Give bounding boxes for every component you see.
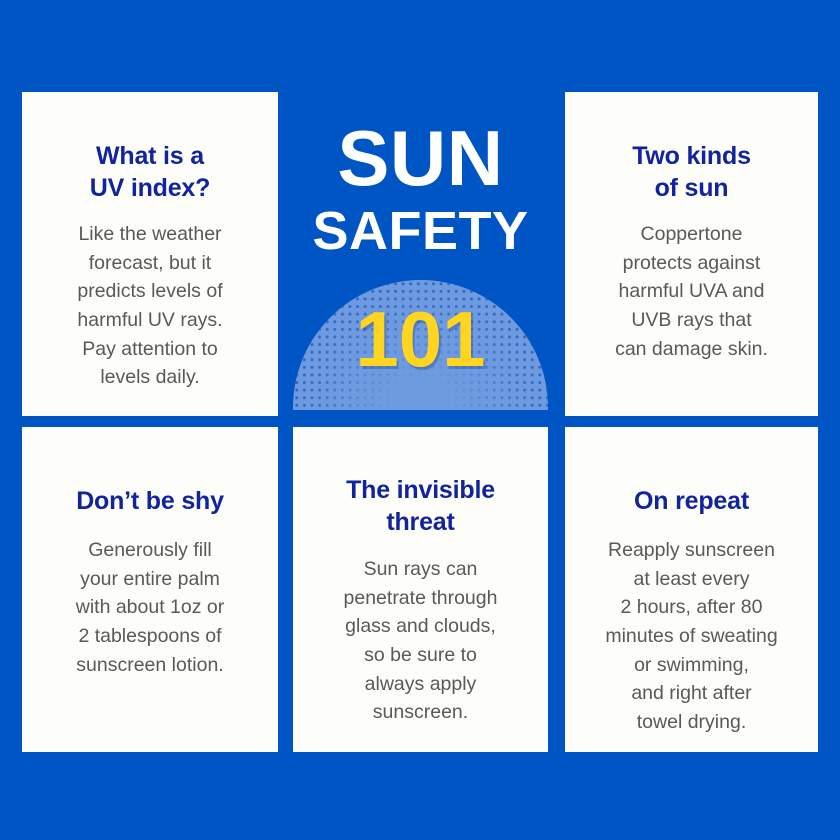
card-title-uv-index: What is a UV index?: [80, 140, 220, 204]
card-body-two-kinds: Coppertone protects against harmful UVA …: [607, 220, 776, 363]
hero-sun-safety-101: SUN SAFETY 101: [293, 92, 548, 416]
hero-number-101: 101: [293, 300, 548, 378]
hero-line-safety: SAFETY: [293, 204, 548, 259]
card-body-on-repeat: Reapply sunscreen at least every 2 hours…: [597, 536, 785, 737]
card-dont-be-shy: Don’t be shy Generously fill your entire…: [22, 427, 278, 752]
card-body-uv-index: Like the weather forecast, but it predic…: [69, 220, 230, 392]
card-on-repeat: On repeat Reapply sunscreen at least eve…: [565, 427, 818, 752]
card-body-invisible-threat: Sun rays can penetrate through glass and…: [336, 555, 506, 727]
card-two-kinds-of-sun: Two kinds of sun Coppertone protects aga…: [565, 92, 818, 416]
card-invisible-threat: The invisible threat Sun rays can penetr…: [293, 427, 548, 752]
card-body-dont-be-shy: Generously fill your entire palm with ab…: [68, 536, 233, 679]
card-title-invisible-threat: The invisible threat: [336, 474, 505, 538]
card-title-two-kinds: Two kinds of sun: [622, 140, 761, 204]
card-title-on-repeat: On repeat: [624, 485, 759, 517]
card-title-dont-be-shy: Don’t be shy: [66, 485, 234, 517]
sun-safety-infographic: What is a UV index? Like the weather for…: [0, 0, 840, 840]
hero-line-sun: SUN: [293, 120, 548, 196]
hero-title: SUN SAFETY: [293, 92, 548, 260]
card-uv-index: What is a UV index? Like the weather for…: [22, 92, 278, 416]
